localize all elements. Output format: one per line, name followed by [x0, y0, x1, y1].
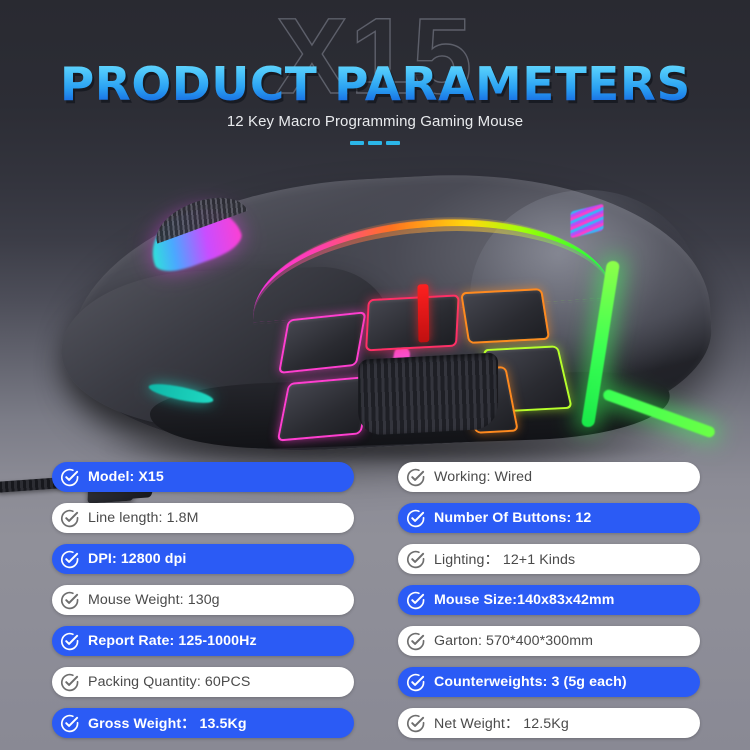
specifications-section: Model: X15 Line length: 1.8M DPI: 12800 … — [0, 462, 750, 750]
spec-pill-label: Number Of Buttons: 12 — [434, 510, 591, 526]
divider-dash — [350, 141, 364, 145]
spec-pill-label: Packing Quantity: 60PCS — [88, 674, 250, 690]
spec-column-right: Working: Wired Number Of Buttons: 12 Lig… — [398, 462, 700, 749]
check-circle-icon — [59, 590, 80, 611]
page-title: PRODUCT PARAMETERS — [60, 57, 691, 111]
spec-pill-label: Report Rate: 125-1000Hz — [88, 633, 257, 649]
spec-pill: Gross Weight： 13.5Kg — [52, 708, 354, 738]
divider-dashes — [0, 141, 750, 145]
spec-pill-label: DPI: 12800 dpi — [88, 551, 186, 567]
spec-pill: Working: Wired — [398, 462, 700, 492]
spec-pill: Mouse Weight: 130g — [52, 585, 354, 615]
check-circle-icon — [59, 549, 80, 570]
spec-pill-label: Net Weight： 12.5Kg — [434, 713, 569, 733]
spec-pill: Model: X15 — [52, 462, 354, 492]
spec-pill-label: Model: X15 — [88, 469, 164, 485]
spec-pill: Counterweights: 3 (5g each) — [398, 667, 700, 697]
check-circle-icon — [405, 631, 426, 652]
spec-pill-label: Working: Wired — [434, 469, 532, 485]
product-photo — [0, 150, 750, 460]
spec-pill-label: Garton: 570*400*300mm — [434, 633, 593, 649]
check-circle-icon — [59, 713, 80, 734]
macro-key — [278, 311, 367, 374]
page-subtitle: 12 Key Macro Programming Gaming Mouse — [0, 113, 750, 130]
header-banner: X15 PRODUCT PARAMETERS 12 Key Macro Prog… — [0, 0, 750, 170]
check-circle-icon — [405, 713, 426, 734]
spec-pill: Packing Quantity: 60PCS — [52, 667, 354, 697]
center-red-light — [417, 284, 429, 343]
macro-button-cluster — [276, 270, 583, 435]
spec-pill: Report Rate: 125-1000Hz — [52, 626, 354, 656]
check-circle-icon — [59, 508, 80, 529]
check-circle-icon — [405, 672, 426, 693]
macro-key — [460, 288, 550, 344]
spec-pill-label: Mouse Size:140x83x42mm — [434, 592, 614, 608]
ribbed-grip-pad — [358, 352, 498, 435]
spec-pill: Mouse Size:140x83x42mm — [398, 585, 700, 615]
spec-pill-label: Mouse Weight: 130g — [88, 592, 220, 608]
check-circle-icon — [59, 631, 80, 652]
divider-dash — [386, 141, 400, 145]
spec-pill-label: Lighting： 12+1 Kinds — [434, 549, 575, 569]
check-circle-icon — [59, 467, 80, 488]
spec-pill: Lighting： 12+1 Kinds — [398, 544, 700, 574]
check-circle-icon — [405, 467, 426, 488]
check-circle-icon — [405, 508, 426, 529]
page-title-wrapper: PRODUCT PARAMETERS — [0, 57, 750, 111]
check-circle-icon — [405, 590, 426, 611]
spec-pill: DPI: 12800 dpi — [52, 544, 354, 574]
divider-dash — [368, 141, 382, 145]
spec-pill: Number Of Buttons: 12 — [398, 503, 700, 533]
spec-pill-label: Counterweights: 3 (5g each) — [434, 674, 627, 690]
spec-column-left: Model: X15 Line length: 1.8M DPI: 12800 … — [52, 462, 354, 749]
spec-pill: Garton: 570*400*300mm — [398, 626, 700, 656]
check-circle-icon — [59, 672, 80, 693]
spec-pill: Line length: 1.8M — [52, 503, 354, 533]
spec-pill-label: Gross Weight： 13.5Kg — [88, 713, 247, 733]
spec-pill-label: Line length: 1.8M — [88, 510, 199, 526]
check-circle-icon — [405, 549, 426, 570]
macro-key — [365, 294, 460, 351]
spec-pill: Net Weight： 12.5Kg — [398, 708, 700, 738]
